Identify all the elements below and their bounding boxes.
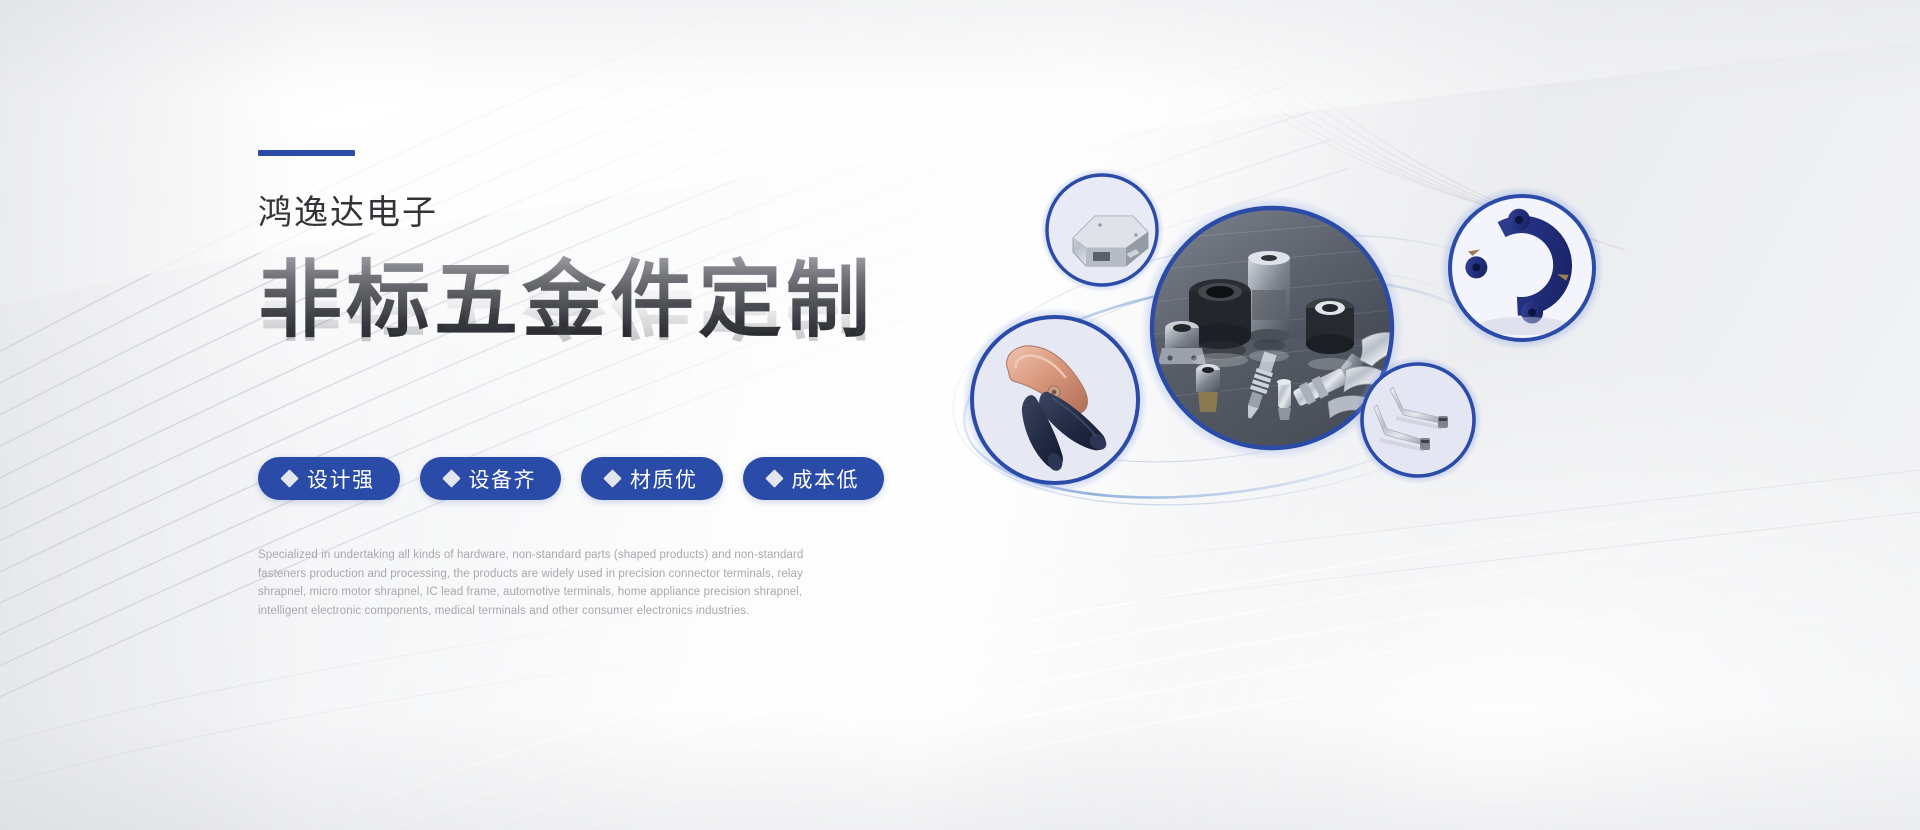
accent-rule [258, 150, 355, 156]
hero-banner: 鸿逸达电子 非标五金件定制 非标五金件定制 设计强 设备齐 材质优 成本低 [0, 0, 1920, 830]
feature-badge-list: 设计强 设备齐 材质优 成本低 [258, 457, 898, 500]
diamond-icon [603, 469, 621, 487]
diamond-icon [442, 469, 460, 487]
feature-badge-label: 设备齐 [469, 464, 537, 494]
bubble-metal-enclosure [1040, 168, 1164, 292]
page-title: 非标五金件定制 [258, 256, 898, 344]
headline-block: 非标五金件定制 非标五金件定制 [258, 256, 898, 391]
diamond-icon [765, 469, 783, 487]
diamond-icon [280, 469, 298, 487]
feature-badge-label: 成本低 [792, 464, 860, 494]
bubble-terminal-pins [1354, 356, 1482, 484]
feature-badge-equipment[interactable]: 设备齐 [420, 457, 562, 500]
brand-name: 鸿逸达电子 [258, 196, 898, 230]
feature-badge-label: 设计强 [307, 464, 375, 494]
feature-badge-label: 材质优 [630, 464, 698, 494]
hero-copy: 鸿逸达电子 非标五金件定制 非标五金件定制 设计强 设备齐 材质优 成本低 [258, 150, 898, 632]
feature-badge-design[interactable]: 设计强 [258, 457, 400, 500]
company-description: Specialized in undertaking all kinds of … [258, 546, 820, 621]
feature-badge-material[interactable]: 材质优 [581, 457, 723, 500]
feature-badge-cost[interactable]: 成本低 [743, 457, 885, 500]
bubble-battery-clamp [962, 307, 1148, 493]
product-showcase [890, 120, 1610, 640]
bubble-retaining-ring [1440, 186, 1604, 350]
